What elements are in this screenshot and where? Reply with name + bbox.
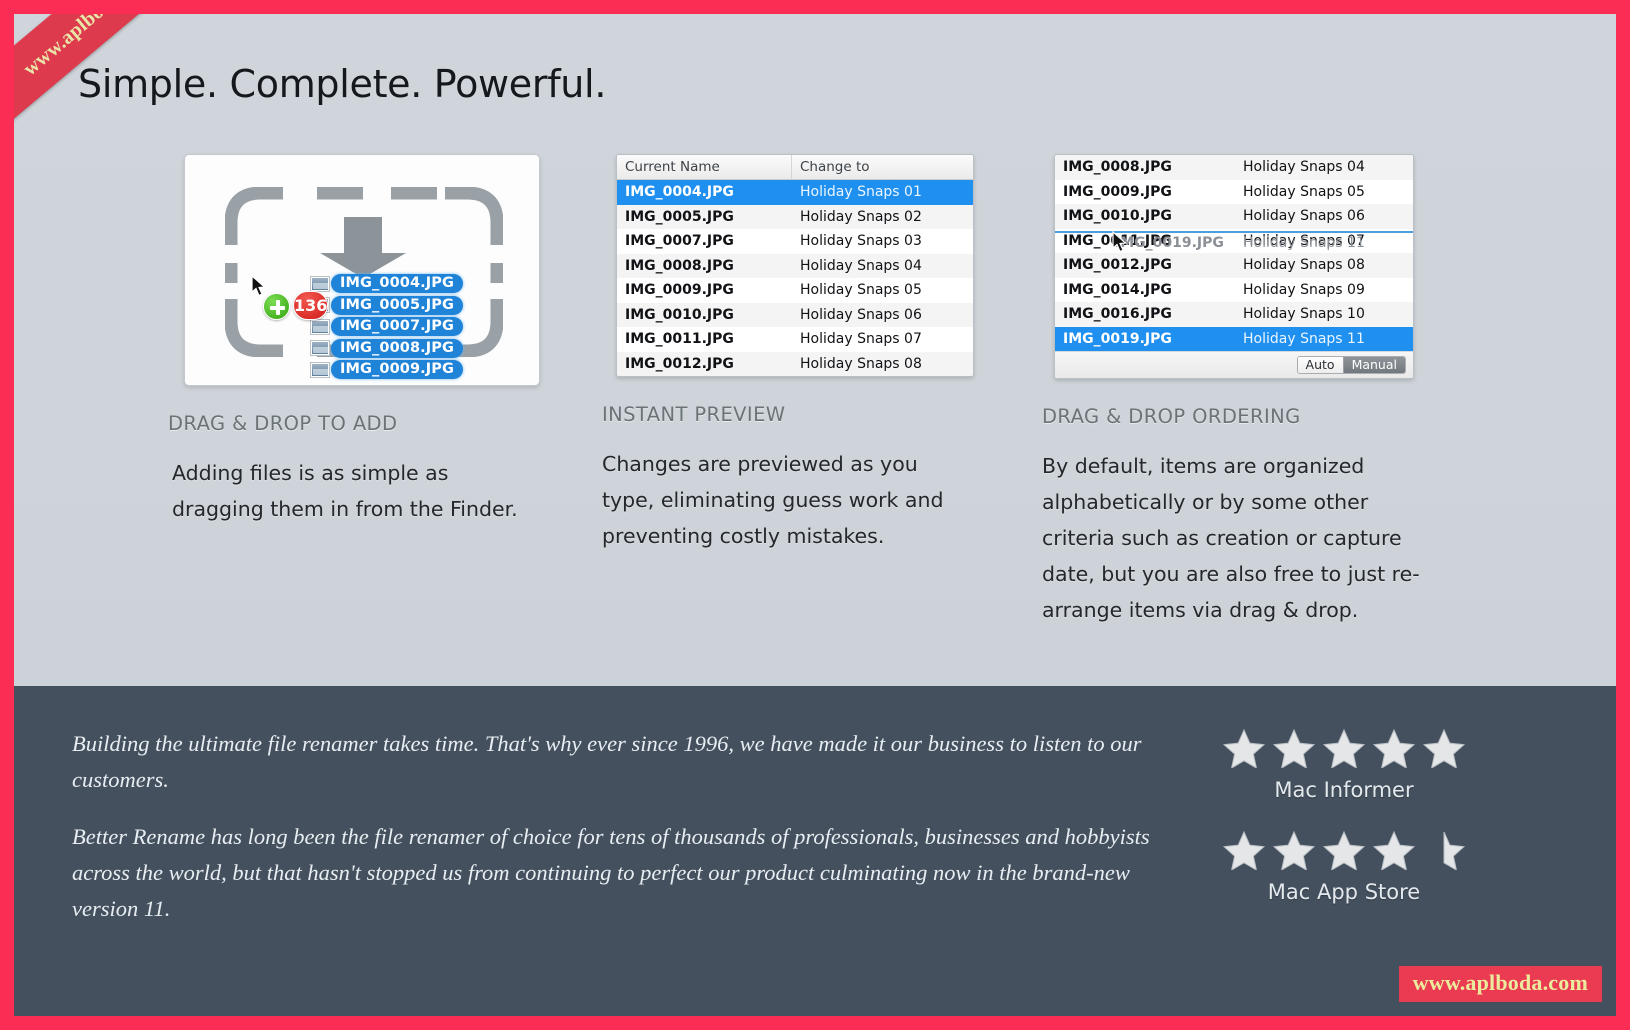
cell-current-name: IMG_0014.JPG: [1055, 282, 1235, 298]
add-plus-badge-icon: [263, 293, 290, 320]
star-icon: [1323, 830, 1365, 870]
feature-column-instant-preview: Current Name Change to IMG_0004.JPG Holi…: [594, 154, 969, 554]
cell-change-to: Holiday Snaps 02: [792, 209, 973, 225]
table-row[interactable]: IMG_0014.JPG Holiday Snaps 09: [1055, 278, 1413, 303]
column-header-current-name[interactable]: Current Name: [617, 155, 792, 179]
table-row[interactable]: IMG_0005.JPG Holiday Snaps 02: [617, 205, 973, 230]
rating-mac-app-store: Mac App Store: [1194, 830, 1494, 904]
star-icon: [1323, 728, 1365, 768]
feature-column-drag-drop-ordering: IMG_0008.JPG Holiday Snaps 04 IMG_0009.J…: [1034, 154, 1434, 628]
preview-table[interactable]: Current Name Change to IMG_0004.JPG Holi…: [616, 154, 974, 377]
image-thumbnail-icon: [311, 363, 329, 377]
cell-change-to: Holiday Snaps 06: [792, 307, 973, 323]
column-header-change-to[interactable]: Change to: [792, 155, 973, 179]
table-header-row: Current Name Change to: [617, 155, 973, 180]
table-row[interactable]: IMG_0011.JPG Holiday Snaps 07: [617, 327, 973, 352]
cell-change-to: Holiday Snaps 05: [1235, 184, 1413, 200]
star-icon: [1273, 728, 1315, 768]
table-row[interactable]: IMG_0012.JPG Holiday Snaps 08: [617, 352, 973, 377]
image-thumbnail-icon: [311, 341, 329, 355]
cell-change-to: Holiday Snaps 11: [1235, 331, 1413, 347]
ordering-table[interactable]: IMG_0008.JPG Holiday Snaps 04 IMG_0009.J…: [1054, 154, 1414, 379]
file-pill-label: IMG_0005.JPG: [331, 296, 463, 315]
cell-change-to: Holiday Snaps 10: [1235, 306, 1413, 322]
table-row[interactable]: IMG_0009.JPG Holiday Snaps 05: [617, 278, 973, 303]
drag-count-badge: 136: [293, 291, 328, 320]
watermark-badge-text: www.aplboda.com: [1413, 970, 1588, 995]
star-icon: [1273, 830, 1315, 870]
testimonial-paragraph-1: Building the ultimate file renamer takes…: [72, 726, 1162, 798]
cell-change-to: Holiday Snaps 01: [792, 184, 973, 200]
rating-source-label: Mac App Store: [1194, 880, 1494, 904]
half-star-icon: [1423, 830, 1465, 870]
page-root: Simple. Complete. Powerful.: [14, 14, 1616, 1016]
page-title: Simple. Complete. Powerful.: [78, 62, 606, 106]
feature-body-text: Adding files is as simple as dragging th…: [172, 455, 538, 527]
cell-current-name: IMG_0011.JPG: [617, 331, 792, 347]
cell-change-to: Holiday Snaps 04: [1235, 159, 1413, 175]
star-icon: [1223, 728, 1265, 768]
list-item[interactable]: IMG_0008.JPG: [311, 338, 540, 360]
cell-current-name: IMG_0011.JPG: [1055, 233, 1235, 249]
list-item[interactable]: IMG_0007.JPG: [311, 316, 540, 338]
download-arrow-icon: [318, 217, 408, 279]
cell-current-name: IMG_0009.JPG: [1055, 184, 1235, 200]
cell-change-to: Holiday Snaps 05: [792, 282, 973, 298]
list-item[interactable]: IMG_0005.JPG: [311, 295, 540, 317]
feature-body-text: Changes are previewed as you type, elimi…: [602, 446, 972, 554]
cell-change-to: Holiday Snaps 07: [1235, 233, 1413, 249]
cell-current-name: IMG_0012.JPG: [617, 356, 792, 372]
star-icon: [1373, 830, 1415, 870]
table-row[interactable]: IMG_0010.JPG Holiday Snaps 06: [617, 303, 973, 328]
cell-current-name: IMG_0010.JPG: [1055, 208, 1235, 224]
cell-current-name: IMG_0010.JPG: [617, 307, 792, 323]
dragged-file-pill-list[interactable]: IMG_0004.JPG IMG_0005.JPG IMG_0007.JPG I…: [311, 273, 540, 381]
image-thumbnail-icon: [311, 320, 329, 334]
cell-current-name: IMG_0009.JPG: [617, 282, 792, 298]
watermark-badge: www.aplboda.com: [1399, 966, 1602, 1002]
mouse-cursor-icon: [251, 275, 267, 297]
ratings-group: Mac Informer Mac App Store: [1194, 728, 1494, 904]
drop-zone-card[interactable]: IMG_0004.JPG IMG_0005.JPG IMG_0007.JPG I…: [184, 154, 540, 386]
image-thumbnail-icon: [311, 277, 329, 291]
sort-mode-manual-button[interactable]: Manual: [1343, 357, 1405, 373]
table-row[interactable]: IMG_0016.JPG Holiday Snaps 10: [1055, 302, 1413, 327]
feature-column-drag-drop-add: IMG_0004.JPG IMG_0005.JPG IMG_0007.JPG I…: [164, 154, 534, 527]
table-row[interactable]: IMG_0011.JPG Holiday Snaps 07: [1055, 229, 1413, 254]
table-row[interactable]: IMG_0010.JPG Holiday Snaps 06: [1055, 204, 1413, 229]
sort-mode-segmented-control[interactable]: Auto Manual: [1297, 356, 1406, 374]
file-pill-label: IMG_0007.JPG: [331, 317, 463, 336]
feature-body-text: By default, items are organized alphabet…: [1042, 448, 1432, 628]
table-footer: Auto Manual: [1055, 351, 1413, 378]
file-pill-label: IMG_0008.JPG: [331, 339, 463, 358]
cell-current-name: IMG_0019.JPG: [1055, 331, 1235, 347]
file-pill-label: IMG_0004.JPG: [331, 274, 463, 293]
table-row[interactable]: IMG_0008.JPG Holiday Snaps 04: [1055, 155, 1413, 180]
star-row: [1194, 728, 1494, 768]
testimonial-paragraph-2: Better Rename has long been the file ren…: [72, 819, 1162, 927]
table-row[interactable]: IMG_0012.JPG Holiday Snaps 08: [1055, 253, 1413, 278]
table-row[interactable]: IMG_0019.JPG Holiday Snaps 11: [1055, 327, 1413, 352]
star-icon: [1423, 728, 1465, 768]
features-section: Simple. Complete. Powerful.: [14, 14, 1616, 686]
feature-heading: INSTANT PREVIEW: [602, 403, 969, 426]
cell-current-name: IMG_0012.JPG: [1055, 257, 1235, 273]
rating-source-label: Mac Informer: [1194, 778, 1494, 802]
cell-change-to: Holiday Snaps 09: [1235, 282, 1413, 298]
list-item[interactable]: IMG_0009.JPG: [311, 359, 540, 381]
cell-change-to: Holiday Snaps 08: [1235, 257, 1413, 273]
feature-heading: DRAG & DROP TO ADD: [168, 412, 534, 435]
star-row: [1194, 830, 1494, 870]
cell-current-name: IMG_0005.JPG: [617, 209, 792, 225]
cell-change-to: Holiday Snaps 04: [792, 258, 973, 274]
file-pill-label: IMG_0009.JPG: [331, 360, 463, 379]
cell-current-name: IMG_0008.JPG: [1055, 159, 1235, 175]
cell-current-name: IMG_0008.JPG: [617, 258, 792, 274]
table-row[interactable]: IMG_0007.JPG Holiday Snaps 03: [617, 229, 973, 254]
cell-change-to: Holiday Snaps 03: [792, 233, 973, 249]
testimonial-section: Building the ultimate file renamer takes…: [14, 686, 1616, 1016]
star-icon: [1373, 728, 1415, 768]
list-item[interactable]: IMG_0004.JPG: [311, 273, 540, 295]
feature-heading: DRAG & DROP ORDERING: [1042, 405, 1434, 428]
cell-change-to: Holiday Snaps 08: [792, 356, 973, 372]
star-icon: [1223, 830, 1265, 870]
cell-current-name: IMG_0007.JPG: [617, 233, 792, 249]
cell-current-name: IMG_0016.JPG: [1055, 306, 1235, 322]
rating-mac-informer: Mac Informer: [1194, 728, 1494, 802]
table-row[interactable]: IMG_0009.JPG Holiday Snaps 05: [1055, 180, 1413, 205]
table-row[interactable]: IMG_0008.JPG Holiday Snaps 04: [617, 254, 973, 279]
sort-mode-auto-button[interactable]: Auto: [1298, 357, 1343, 373]
table-row[interactable]: IMG_0004.JPG Holiday Snaps 01: [617, 180, 973, 205]
cell-change-to: Holiday Snaps 06: [1235, 208, 1413, 224]
cell-change-to: Holiday Snaps 07: [792, 331, 973, 347]
cell-current-name: IMG_0004.JPG: [617, 184, 792, 200]
